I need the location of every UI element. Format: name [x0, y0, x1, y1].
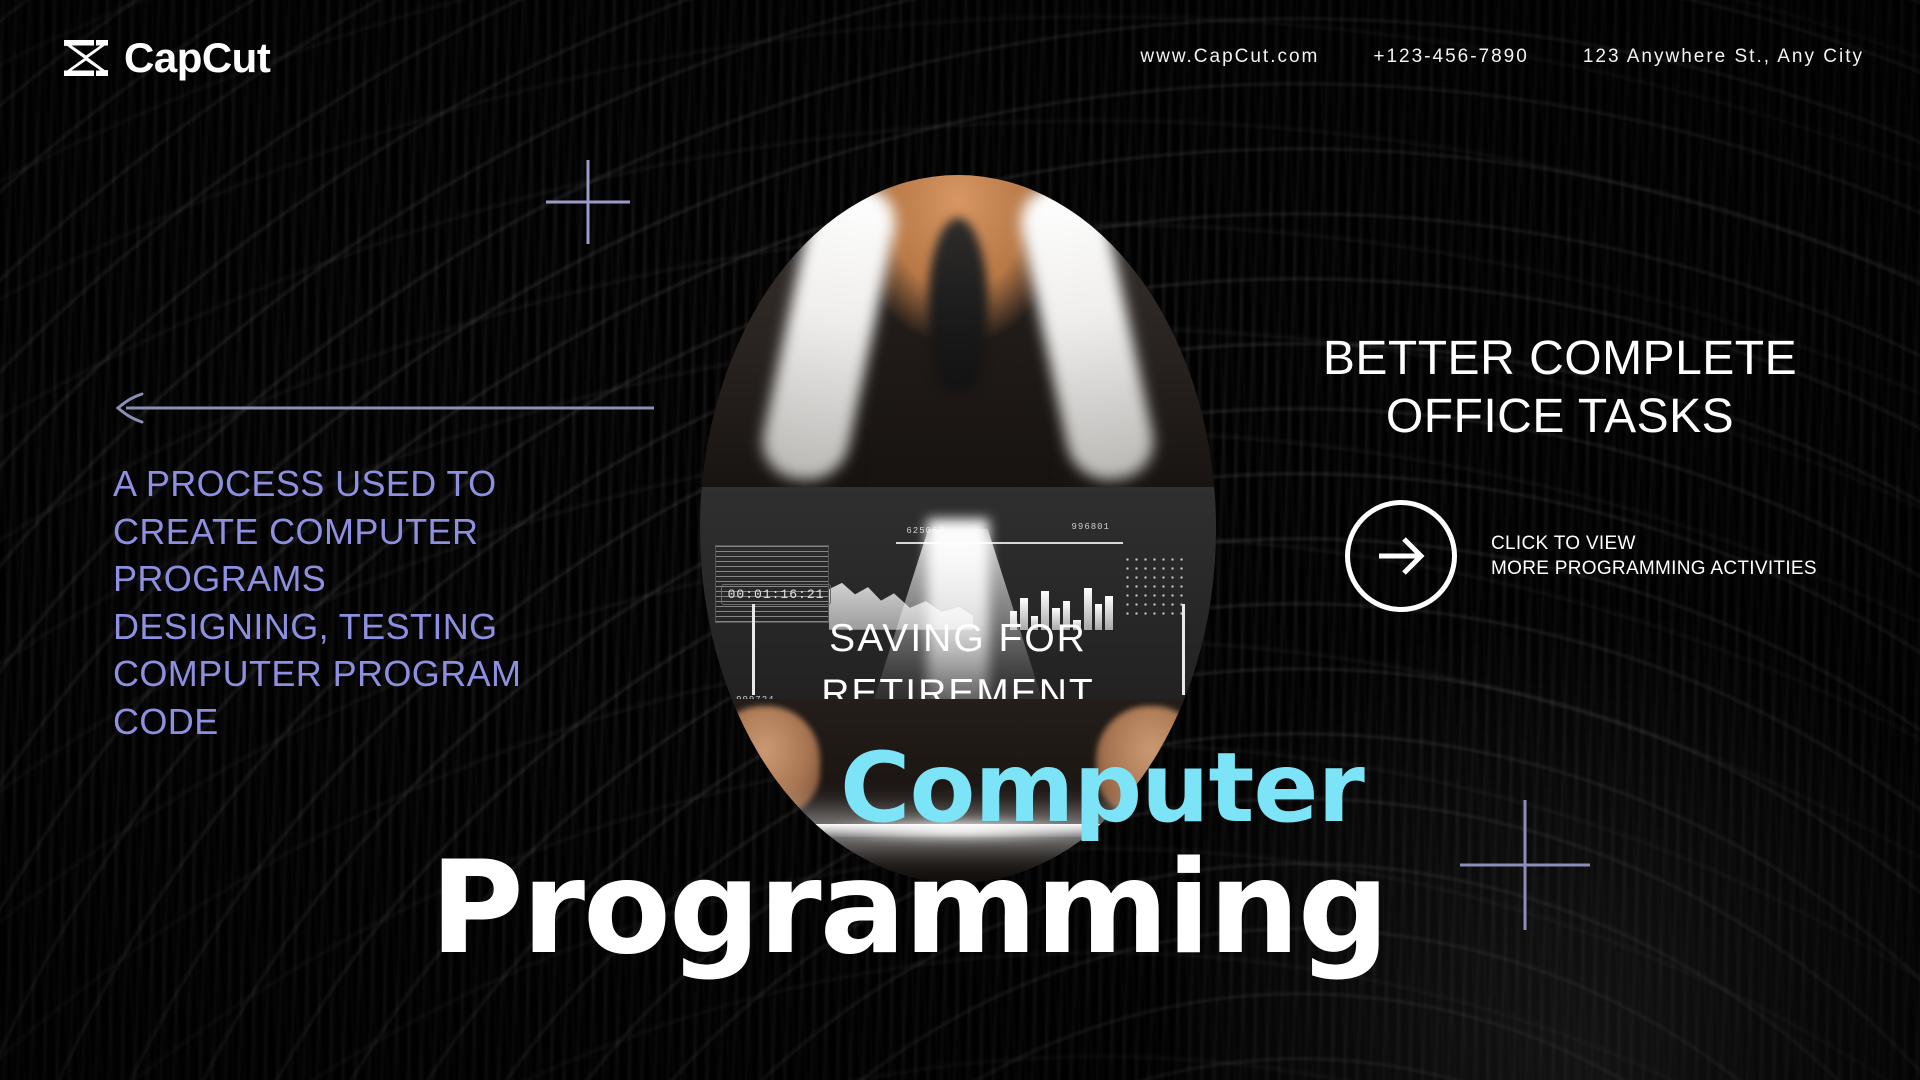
photo-necktie — [928, 218, 988, 393]
hud-number-b: 996801 — [1072, 522, 1110, 532]
header-bar: CapCut www.CapCut.com +123-456-7890 123 … — [0, 0, 1920, 130]
cta-label-line1: CLICK TO VIEW — [1491, 531, 1817, 556]
brand-name: CapCut — [124, 37, 270, 79]
hud-dot-matrix — [1123, 555, 1185, 620]
hud-timecode: 00:01:16:21 — [721, 584, 832, 605]
left-description-text: A PROCESS USED TO CREATE COMPUTER PROGRA… — [113, 460, 593, 745]
left-description-line: PROGRAMS — [113, 555, 593, 603]
photo-person-suit — [700, 175, 1216, 508]
capcut-logo-icon — [62, 36, 110, 80]
arrow-left-line-icon — [112, 392, 654, 424]
cta-group[interactable]: CLICK TO VIEW MORE PROGRAMMING ACTIVITIE… — [1345, 500, 1817, 612]
right-heading: BETTER COMPLETE OFFICE TASKS — [1300, 330, 1820, 445]
contact-website[interactable]: www.CapCut.com — [1140, 46, 1319, 68]
right-heading-line1: BETTER COMPLETE — [1300, 330, 1820, 388]
cta-label[interactable]: CLICK TO VIEW MORE PROGRAMMING ACTIVITIE… — [1491, 531, 1817, 581]
contact-address: 123 Anywhere St., Any City — [1583, 46, 1864, 68]
hud-bracket-left — [752, 604, 755, 695]
hud-bracket-right — [1182, 604, 1185, 695]
plus-mark-icon-top — [546, 160, 630, 244]
left-description-line: COMPUTER PROGRAM — [113, 650, 593, 698]
title-line-programming: Programming — [430, 845, 1387, 973]
slide-canvas: CapCut www.CapCut.com +123-456-7890 123 … — [0, 0, 1920, 1080]
left-description-line: CREATE COMPUTER — [113, 508, 593, 556]
header-contact-group: www.CapCut.com +123-456-7890 123 Anywher… — [1140, 46, 1864, 68]
left-description-line: DESIGNING, TESTING — [113, 603, 593, 651]
left-description-line: A PROCESS USED TO — [113, 460, 593, 508]
photo-hand-left — [710, 706, 820, 816]
cta-label-line2: MORE PROGRAMMING ACTIVITIES — [1491, 556, 1817, 581]
right-heading-line2: OFFICE TASKS — [1300, 388, 1820, 446]
brand-logo[interactable]: CapCut — [62, 36, 270, 80]
left-description-line: CODE — [113, 698, 593, 746]
title-line-computer: Computer — [840, 740, 1364, 836]
arrow-right-circle-icon[interactable] — [1345, 500, 1457, 612]
plus-mark-icon-bottom — [1460, 800, 1590, 930]
contact-phone[interactable]: +123-456-7890 — [1373, 46, 1528, 68]
